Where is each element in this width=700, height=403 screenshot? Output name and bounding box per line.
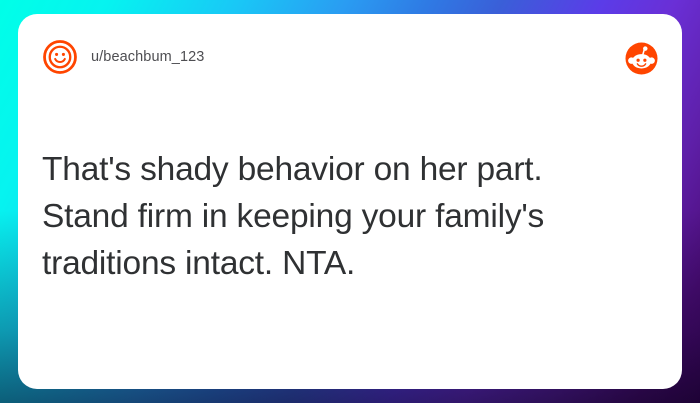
reddit-snoo-icon[interactable] [625, 42, 658, 75]
comment-text: That's shady behavior on her part. Stand… [42, 146, 642, 287]
author-block[interactable]: u/beachbum_123 [42, 39, 204, 75]
comment-card: u/beachbum_123 [18, 14, 682, 389]
card-header: u/beachbum_123 [18, 14, 682, 100]
smiley-avatar-icon[interactable] [42, 39, 78, 75]
gradient-backdrop: u/beachbum_123 [0, 0, 700, 403]
author-username: u/beachbum_123 [91, 49, 204, 65]
